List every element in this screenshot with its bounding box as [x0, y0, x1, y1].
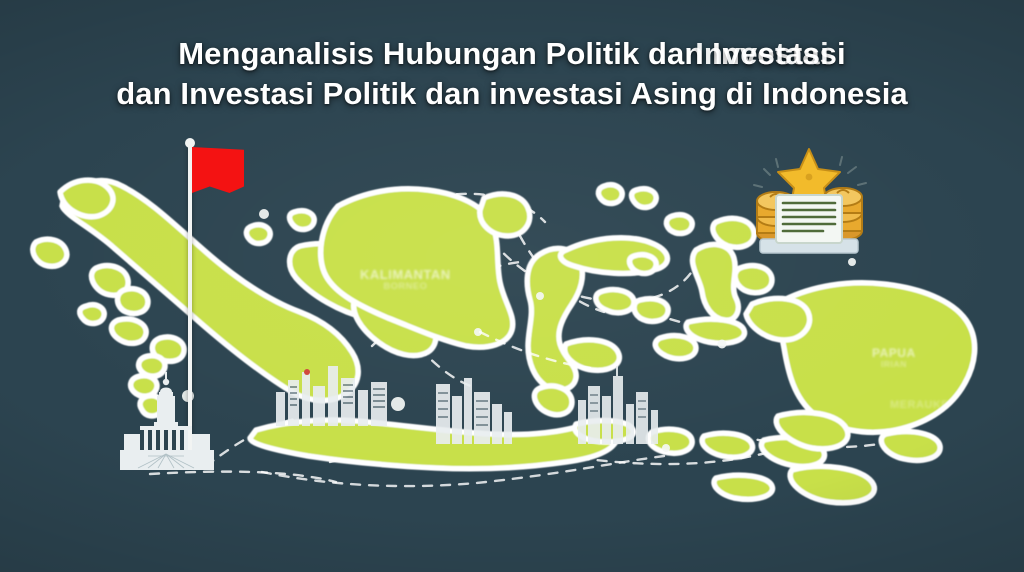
flag-cloth: [192, 147, 244, 193]
government-building-icon: [118, 372, 216, 472]
document-card: [776, 195, 842, 243]
city-skyline-surabaya: [436, 378, 512, 444]
flag-finial: [185, 138, 195, 148]
island-label-papua: PAPUA IRIAN: [872, 347, 916, 369]
island-label-papua-south: MERAUKE: [890, 400, 949, 412]
island-label-kalimantan: KALIMANTAN BORNEO: [360, 268, 451, 291]
poster-canvas: KALIMANTAN BORNEO PAPUA IRIAN MERAUKE Me…: [0, 0, 1024, 572]
island-label-main: KALIMANTAN: [360, 267, 451, 282]
island-label-sub: BORNEO: [360, 282, 451, 292]
city-skyline-makassar: [578, 366, 658, 444]
island-label-main: MERAUKE: [890, 399, 949, 411]
island-label-main: PAPUA: [872, 346, 916, 360]
indonesia-map: [0, 0, 1024, 572]
gold-coins-document-icon: [748, 143, 870, 259]
island-label-sub: IRIAN: [872, 360, 916, 369]
